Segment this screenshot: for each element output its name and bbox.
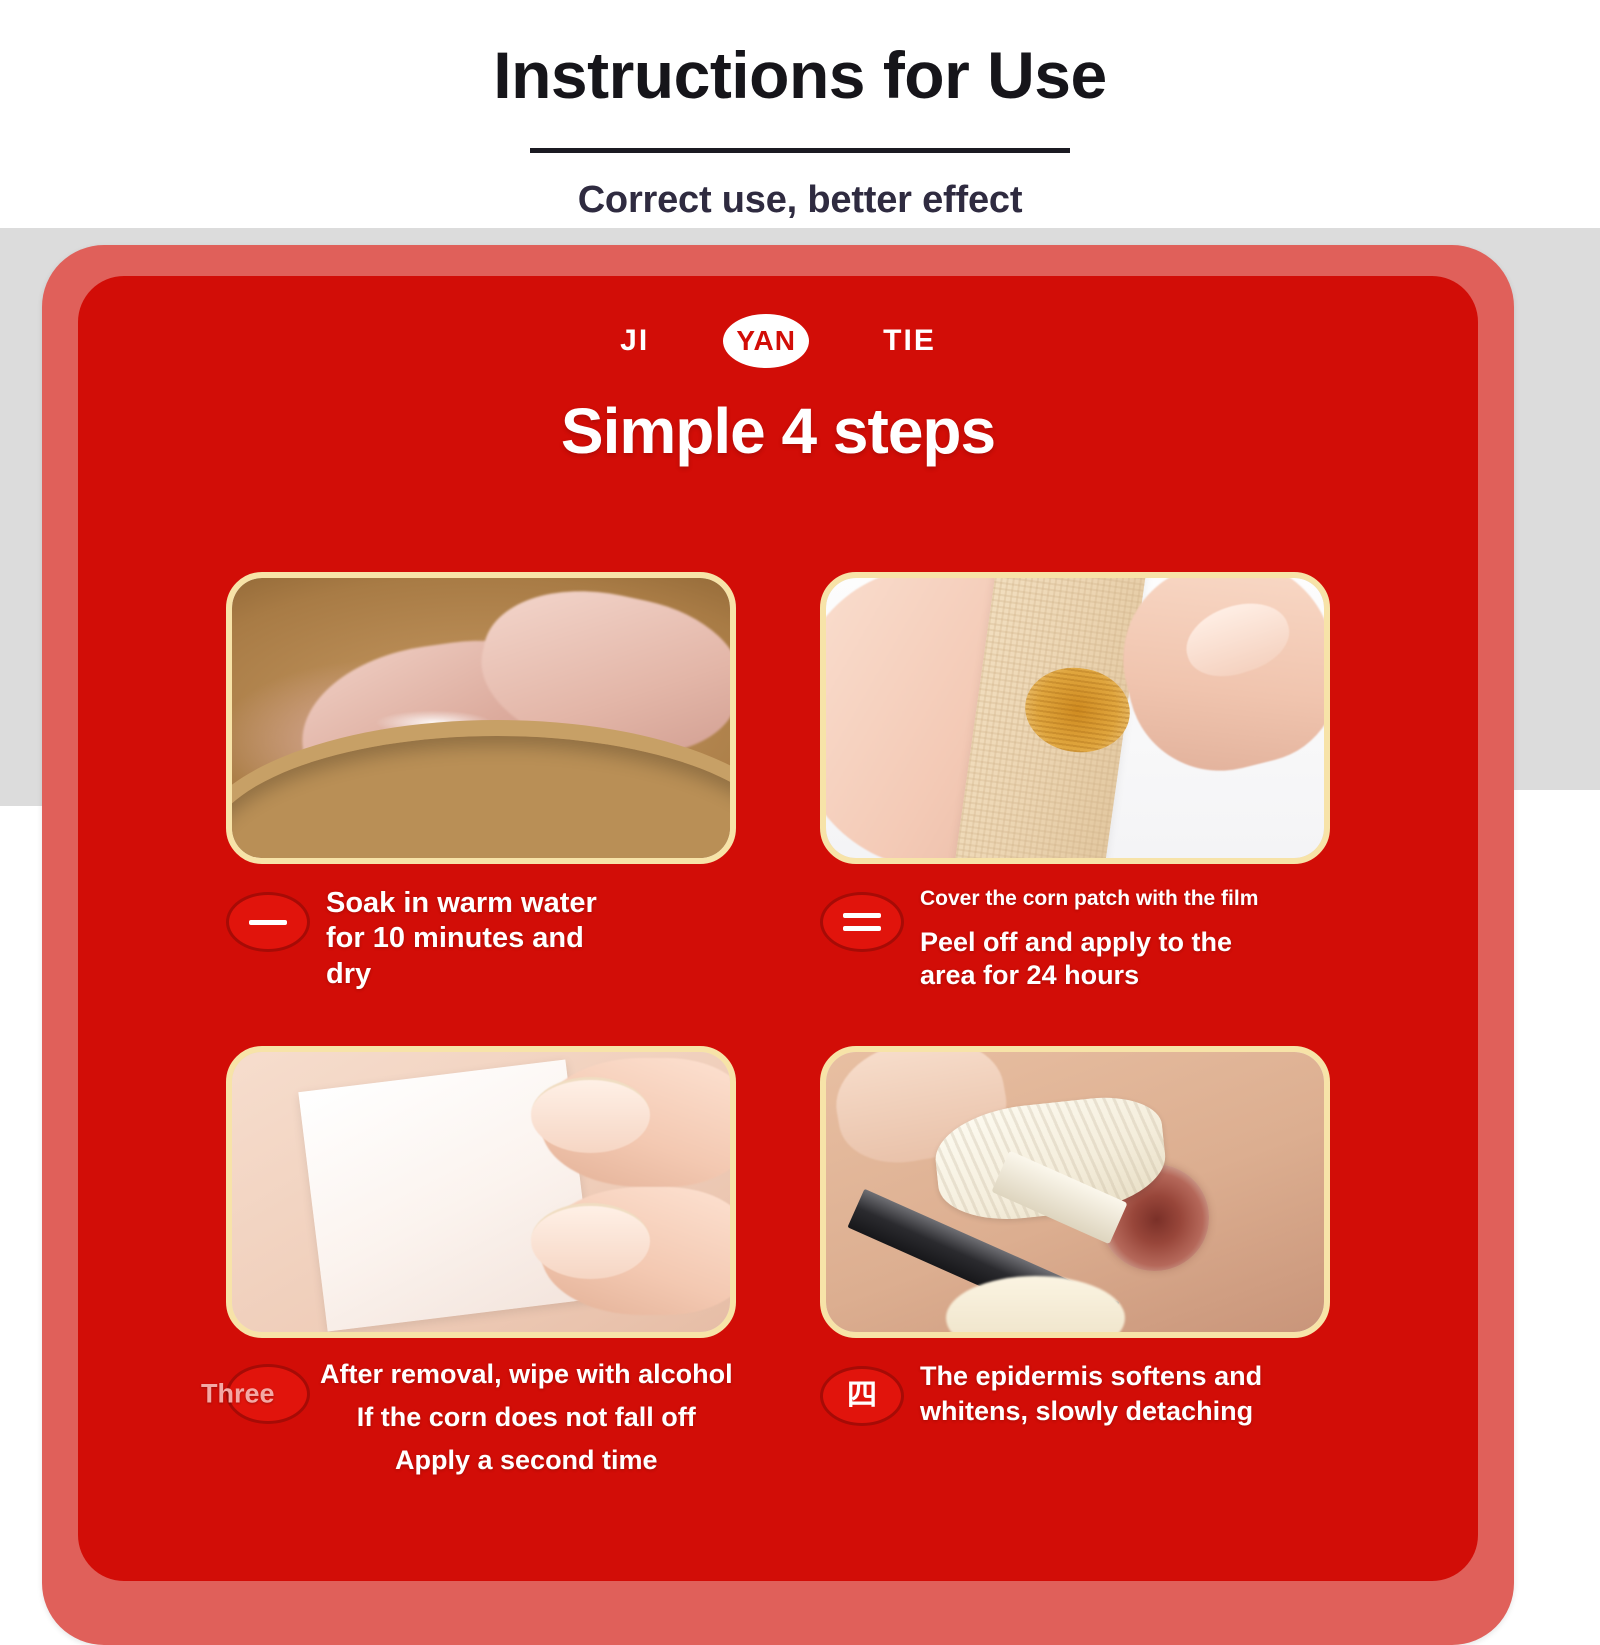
step-text-3: After removal, wipe with alcohol If the … bbox=[320, 1358, 733, 1477]
step-badge-4: 四 bbox=[820, 1366, 904, 1426]
step-caption-1: Soak in warm water for 10 minutes and dr… bbox=[226, 886, 736, 992]
step-caption-2: Cover the corn patch with the film Peel … bbox=[820, 886, 1330, 991]
step-text-4: The epidermis softens and whitens, slowl… bbox=[920, 1360, 1262, 1428]
step-text-line: Soak in warm water bbox=[326, 886, 597, 921]
step-caption-4: 四 The epidermis softens and whitens, slo… bbox=[820, 1360, 1330, 1428]
brand-lockup: JI YAN TIE bbox=[78, 314, 1478, 368]
step-badge-3: Three bbox=[226, 1364, 310, 1424]
badge-bar-icon bbox=[843, 926, 881, 931]
brand-word-yan: YAN bbox=[736, 325, 796, 357]
step-text-line: Cover the corn patch with the film bbox=[920, 886, 1258, 912]
step-card-1: Soak in warm water for 10 minutes and dr… bbox=[226, 572, 736, 992]
page-title: Instructions for Use bbox=[0, 0, 1600, 108]
steps-grid: Soak in warm water for 10 minutes and dr… bbox=[78, 572, 1478, 1477]
badge-cn-four: 四 bbox=[847, 1381, 877, 1411]
photo-thumb bbox=[1103, 578, 1324, 791]
step-text-line: whitens, slowly detaching bbox=[920, 1395, 1262, 1428]
step-badge-1 bbox=[226, 892, 310, 952]
step-text-line: for 10 minutes and bbox=[326, 921, 597, 956]
steps-row: Soak in warm water for 10 minutes and dr… bbox=[78, 572, 1478, 992]
steps-heading: Simple 4 steps bbox=[78, 394, 1478, 468]
step-text-line: dry bbox=[326, 957, 597, 992]
photo-corn-patch bbox=[826, 578, 1324, 858]
step-card-2: Cover the corn patch with the film Peel … bbox=[820, 572, 1330, 992]
step-photo-frame-2 bbox=[820, 572, 1330, 864]
step-text-line: Apply a second time bbox=[320, 1444, 733, 1477]
badge-bar-icon bbox=[249, 920, 287, 925]
step-text-line: If the corn does not fall off bbox=[320, 1401, 733, 1434]
step-card-3: Three After removal, wipe with alcohol I… bbox=[226, 1046, 736, 1477]
step-caption-3: Three After removal, wipe with alcohol I… bbox=[226, 1358, 736, 1477]
steps-row: Three After removal, wipe with alcohol I… bbox=[78, 1046, 1478, 1477]
photo-skin-debris bbox=[946, 1276, 1125, 1332]
badge-bar-icon bbox=[843, 913, 881, 918]
step-text-2: Cover the corn patch with the film Peel … bbox=[920, 886, 1258, 991]
step-card-4: 四 The epidermis softens and whitens, slo… bbox=[820, 1046, 1330, 1477]
step-text-line: Peel off and apply to the bbox=[920, 926, 1258, 959]
photo-foot-soak bbox=[232, 578, 730, 858]
step-text-line: After removal, wipe with alcohol bbox=[320, 1358, 733, 1391]
step-badge-2 bbox=[820, 892, 904, 952]
brand-word-tie: TIE bbox=[883, 324, 936, 358]
photo-fingernail bbox=[531, 1203, 651, 1279]
step-text-line: The epidermis softens and bbox=[920, 1360, 1262, 1393]
step-text-1: Soak in warm water for 10 minutes and dr… bbox=[326, 886, 597, 992]
photo-alcohol-wipe bbox=[232, 1052, 730, 1332]
step-photo-frame-3 bbox=[226, 1046, 736, 1338]
badge-word-three: Three bbox=[201, 1379, 275, 1410]
brand-word-ji: JI bbox=[620, 324, 649, 358]
step-photo-frame-4 bbox=[820, 1046, 1330, 1338]
photo-fingernail bbox=[531, 1077, 651, 1153]
page-subtitle: Correct use, better effect bbox=[0, 153, 1600, 222]
page-header: Instructions for Use Correct use, better… bbox=[0, 0, 1600, 228]
brand-pill-yan: YAN bbox=[723, 314, 809, 368]
instruction-card: JI YAN TIE Simple 4 steps bbox=[78, 276, 1478, 1581]
photo-epidermis-peel bbox=[826, 1052, 1324, 1332]
step-photo-frame-1 bbox=[226, 572, 736, 864]
step-text-line: area for 24 hours bbox=[920, 959, 1258, 992]
